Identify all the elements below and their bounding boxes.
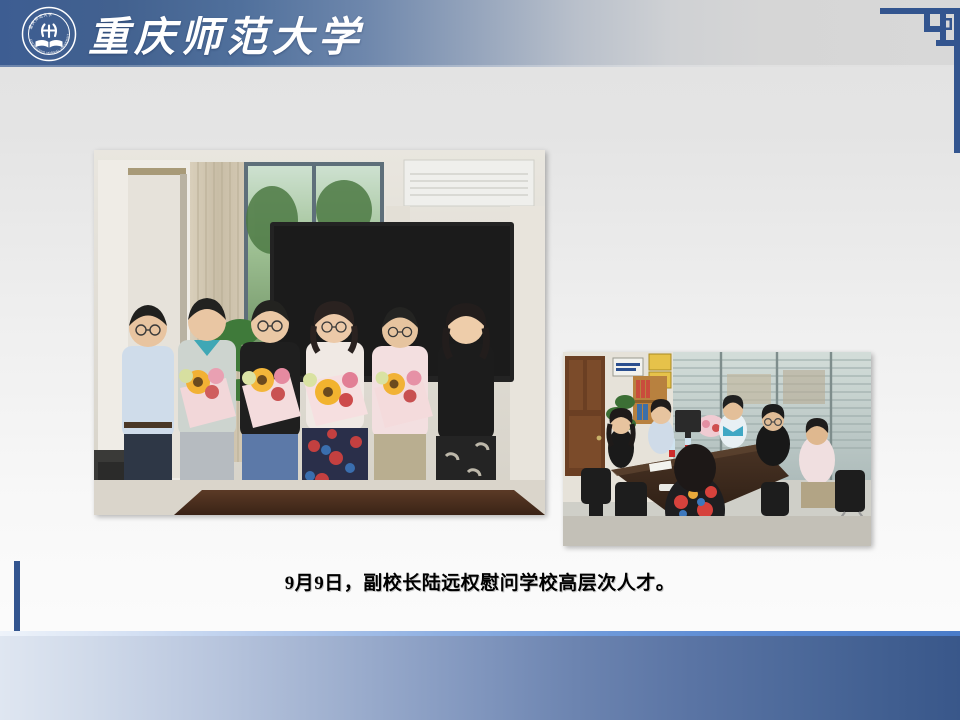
university-emblem-icon: 重庆师范大学 CHONGQING NORMAL UNIVERSITY [21, 6, 77, 62]
hui-pattern-corner-icon-top-right [880, 8, 960, 153]
group-photo-with-flowers [94, 150, 545, 515]
slide-footer-band [0, 636, 960, 720]
slide-caption: 9月9日，副校长陆远权慰问学校高层次人才。 [0, 568, 960, 595]
university-name-text: 重庆师范大学 [88, 3, 364, 63]
meeting-room-photo [563, 352, 871, 546]
slide-header-band: 重庆师范大学 CHONGQING NORMAL UNIVERSITY [0, 0, 960, 67]
presentation-slide: 重庆师范大学 CHONGQING NORMAL UNIVERSITY [0, 0, 960, 720]
